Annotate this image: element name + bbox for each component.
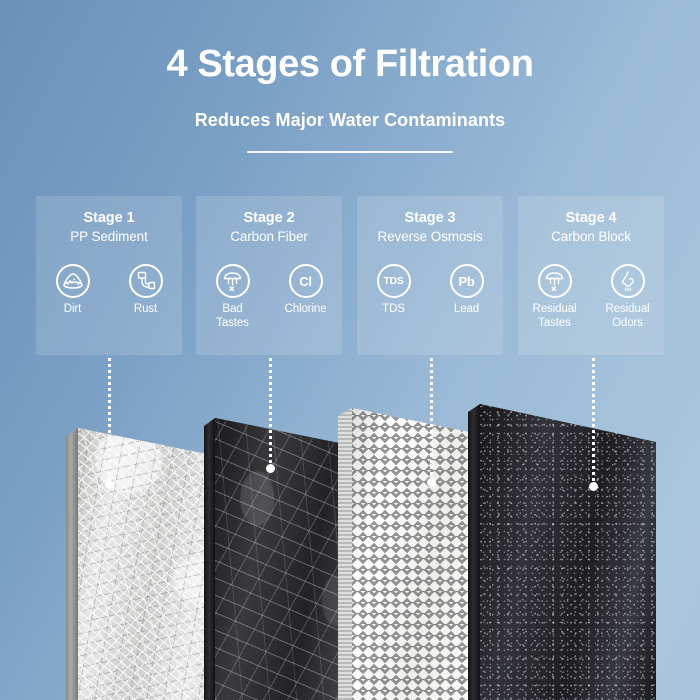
icon-label: Bad Tastes: [216, 303, 249, 330]
connector-endpoint-dot: [427, 478, 436, 487]
contaminant-dirt[interactable]: Dirt: [45, 264, 101, 317]
stage-card-3[interactable]: Stage 3 Reverse Osmosis TDS TDS Pb Lead: [357, 196, 503, 355]
stage-label: Stage 1: [36, 210, 182, 226]
stage-icon-row: Bad Tastes Cl Chlorine: [196, 264, 342, 330]
slab-edge-stage-3: [338, 408, 352, 700]
connector-stage-3: [430, 358, 433, 482]
stage-icon-row: Dirt Rust: [36, 264, 182, 317]
connector-endpoint-dot: [589, 482, 598, 491]
contaminant-residual-tastes[interactable]: Residual Tastes: [527, 264, 583, 330]
page-subtitle: Reduces Major Water Contaminants: [0, 110, 700, 131]
connector-dashes: [430, 358, 433, 482]
stage-media: PP Sediment: [36, 229, 182, 244]
contaminant-lead[interactable]: Pb Lead: [439, 264, 495, 317]
contaminant-rust[interactable]: Rust: [118, 264, 174, 317]
connector-endpoint-dot: [266, 464, 275, 473]
icon-label: Dirt: [64, 303, 82, 317]
page-title: 4 Stages of Filtration: [0, 44, 700, 86]
icon-label: Residual Tastes: [533, 303, 577, 330]
stage-media: Carbon Fiber: [196, 229, 342, 244]
icon-label: Chlorine: [284, 303, 326, 317]
connector-stage-1: [108, 358, 111, 484]
tds-symbol: TDS: [383, 276, 403, 287]
lead-icon: Pb: [450, 264, 484, 298]
tds-icon: TDS: [377, 264, 411, 298]
chlorine-symbol: Cl: [299, 275, 311, 288]
connector-endpoint-dot: [105, 480, 114, 489]
slab-edge-stage-4: [468, 404, 480, 700]
icon-label: Rust: [134, 303, 157, 317]
stage-card-group: Stage 1 PP Sediment Dirt: [36, 196, 664, 356]
header-divider: [247, 151, 453, 153]
icon-label: Residual Odors: [606, 303, 650, 330]
stage-icon-row: Residual Tastes Residual Odors: [518, 264, 664, 330]
stage-icon-row: TDS TDS Pb Lead: [357, 264, 503, 317]
connector-dashes: [108, 358, 111, 484]
connector-stage-2: [269, 358, 272, 468]
icon-label: Lead: [454, 303, 479, 317]
icon-label: TDS: [382, 303, 405, 317]
chlorine-icon: Cl: [289, 264, 323, 298]
slab-face-stage-4: [480, 378, 656, 700]
slab-edge-stage-2: [204, 418, 215, 700]
contaminant-tds[interactable]: TDS TDS: [366, 264, 422, 317]
slab-edge-stage-1: [66, 428, 78, 700]
infographic-canvas: 4 Stages of Filtration Reduces Major Wat…: [0, 0, 700, 700]
connector-stage-4: [592, 358, 595, 486]
stage-card-4[interactable]: Stage 4 Carbon Block Residual: [518, 196, 664, 355]
lead-symbol: Pb: [458, 275, 474, 288]
rust-pipe-icon: [129, 264, 163, 298]
contaminant-residual-odors[interactable]: Residual Odors: [600, 264, 656, 330]
residual-odor-nose-icon: [611, 264, 645, 298]
stage-media: Reverse Osmosis: [357, 229, 503, 244]
dirt-pile-icon: [56, 264, 90, 298]
connector-dashes: [269, 358, 272, 468]
contaminant-bad-tastes[interactable]: Bad Tastes: [205, 264, 261, 330]
contaminant-chlorine[interactable]: Cl Chlorine: [278, 264, 334, 330]
stage-label: Stage 4: [518, 210, 664, 226]
stage-label: Stage 3: [357, 210, 503, 226]
stage-label: Stage 2: [196, 210, 342, 226]
filter-slab-group: [0, 360, 700, 700]
stage-card-2[interactable]: Stage 2 Carbon Fiber Bad Taste: [196, 196, 342, 355]
bad-taste-tongue-icon: [216, 264, 250, 298]
stage-media: Carbon Block: [518, 229, 664, 244]
slab-stage-4: [468, 378, 656, 700]
stage-card-1[interactable]: Stage 1 PP Sediment Dirt: [36, 196, 182, 355]
residual-taste-tongue-icon: [538, 264, 572, 298]
connector-dashes: [592, 358, 595, 486]
